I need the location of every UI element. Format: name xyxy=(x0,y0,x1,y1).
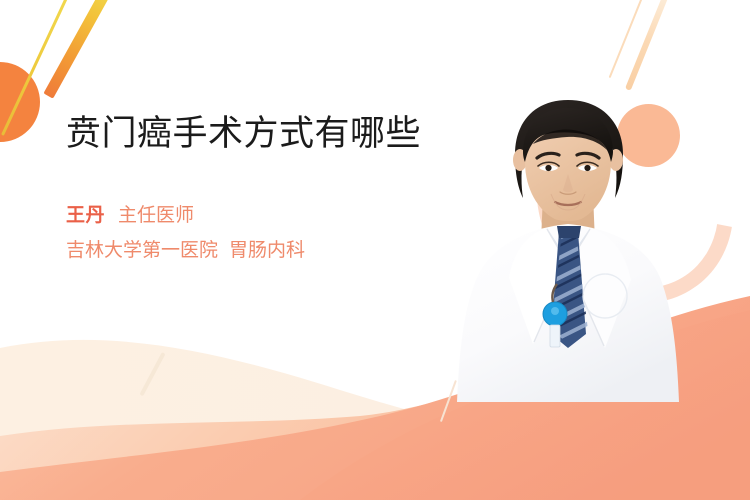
diagonal-stripe-thick-top-left xyxy=(43,0,113,99)
doctor-credentials: 王丹主任医师 吉林大学第一医院胃肠内科 xyxy=(66,201,426,266)
doctor-affiliation-line: 吉林大学第一医院胃肠内科 xyxy=(66,236,426,265)
doctor-department: 胃肠内科 xyxy=(229,239,305,261)
orange-circle-left xyxy=(0,62,40,142)
doctor-professional-title: 主任医师 xyxy=(118,204,194,226)
doctor-name: 王丹 xyxy=(66,204,105,226)
doctor-hospital: 吉林大学第一医院 xyxy=(66,239,218,261)
pupil-left xyxy=(545,165,551,171)
tie-knot xyxy=(557,226,581,238)
doctor-name-line: 王丹主任医师 xyxy=(66,201,426,230)
doctor-portrait xyxy=(455,82,685,402)
video-cover: 贲门癌手术方式有哪些 王丹主任医师 吉林大学第一医院胃肠内科 xyxy=(0,0,750,500)
text-content: 贲门癌手术方式有哪些 王丹主任医师 吉林大学第一医院胃肠内科 xyxy=(66,112,426,265)
pupil-right xyxy=(584,165,590,171)
diagonal-stripe-top-right-a xyxy=(625,0,674,91)
page-title: 贲门癌手术方式有哪些 xyxy=(66,112,426,158)
